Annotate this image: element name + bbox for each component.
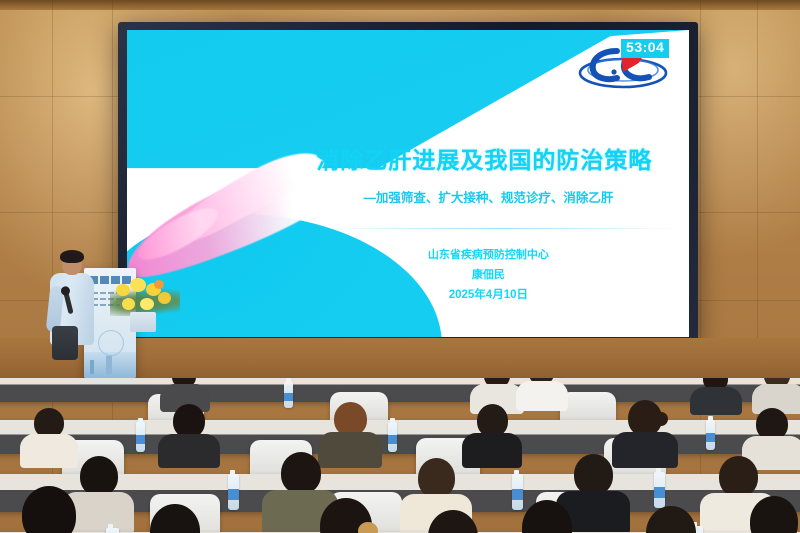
audience-area xyxy=(0,378,800,533)
flower xyxy=(140,298,154,310)
audience-person xyxy=(752,378,800,412)
slide-divider xyxy=(319,228,681,229)
audience-person xyxy=(730,496,800,533)
water-bottle xyxy=(706,420,715,450)
flower-arrangement xyxy=(110,268,180,324)
flower xyxy=(130,278,146,292)
water-bottle xyxy=(106,528,119,533)
flower xyxy=(116,284,130,296)
speaker-trousers xyxy=(52,326,78,360)
table-row xyxy=(0,378,800,402)
presentation-screen: 消除乙肝进展及我国的防治策略 —加强筛查、扩大接种、规范诊疗、消除乙肝 山东省疾… xyxy=(127,30,689,337)
slide-title: 消除乙肝进展及我国的防治策略 xyxy=(296,141,674,175)
countdown-timer: 53:04 xyxy=(621,39,669,57)
flower xyxy=(154,280,164,289)
audience-person xyxy=(462,404,522,466)
cdc-logo: 53:04 xyxy=(577,39,669,91)
audience-person xyxy=(158,404,220,466)
audience-person xyxy=(622,506,720,533)
water-bottle xyxy=(284,382,293,408)
speaker-glasses xyxy=(63,261,81,266)
audience-person xyxy=(516,378,568,408)
audience-person xyxy=(128,504,224,533)
audience-person xyxy=(500,500,596,533)
vase xyxy=(130,312,156,332)
audience-person xyxy=(690,378,742,412)
slide-organization: 山东省疾病预防控制中心 xyxy=(296,246,682,262)
slide-subtitle: —加强筛查、扩大接种、规范诊疗、消除乙肝 xyxy=(296,187,682,206)
slide-date: 2025年4月10日 xyxy=(296,286,682,302)
ceiling-edge xyxy=(0,0,800,10)
flower xyxy=(122,298,135,310)
water-bottle xyxy=(136,422,145,452)
audience-person xyxy=(406,510,500,533)
audience-person xyxy=(296,498,396,533)
flower xyxy=(158,292,171,304)
water-bottle xyxy=(228,474,239,510)
slide-presenter: 康佃民 xyxy=(296,266,682,282)
audience-person xyxy=(0,486,100,533)
conference-photo: 消除乙肝进展及我国的防治策略 —加强筛查、扩大接种、规范诊疗、消除乙肝 山东省疾… xyxy=(0,0,800,533)
water-bottle xyxy=(388,422,397,452)
speaker-presenter xyxy=(50,252,94,362)
water-bottle xyxy=(654,472,665,508)
